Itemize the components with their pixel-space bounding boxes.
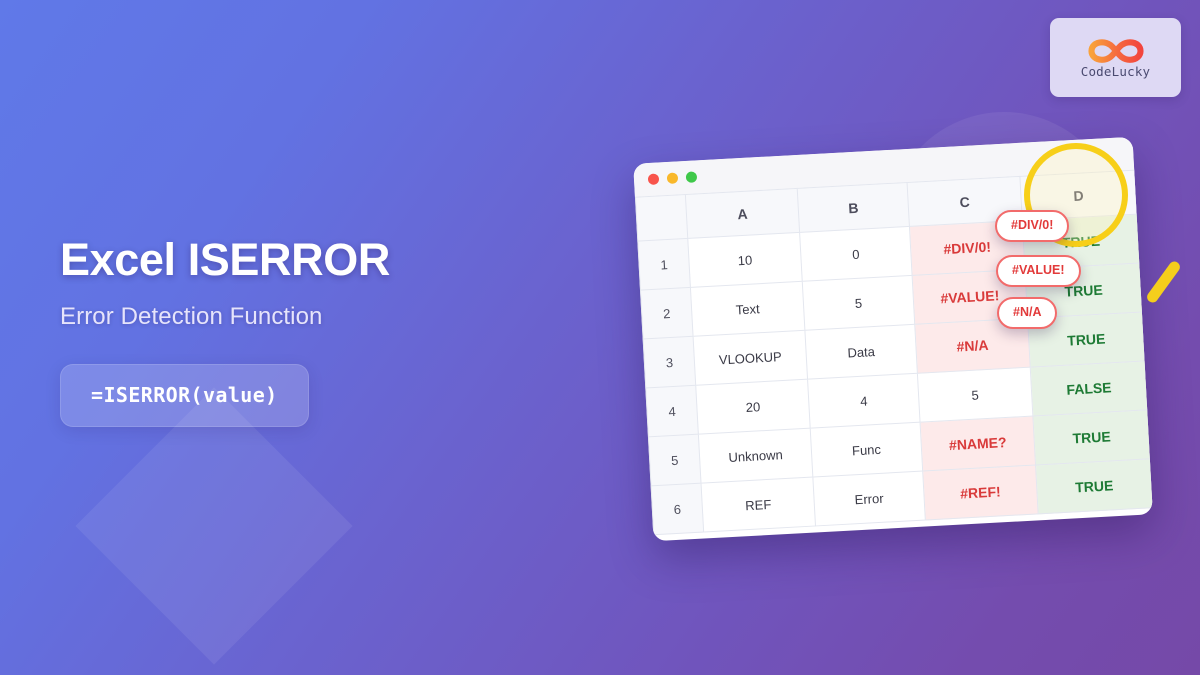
close-dot-icon[interactable] (648, 173, 660, 185)
column-header-corner[interactable] (635, 195, 687, 242)
cell-a1[interactable]: 10 (688, 232, 802, 287)
page-subtitle: Error Detection Function (60, 303, 580, 331)
brand-name: CodeLucky (1081, 66, 1151, 79)
formula-text: =ISERROR(value) (91, 383, 278, 407)
cell-a4[interactable]: 20 (696, 379, 810, 434)
cell-b5[interactable]: Func (810, 422, 922, 477)
infinity-icon (1088, 37, 1144, 65)
hero-text-block: Excel ISERROR Error Detection Function =… (60, 236, 580, 427)
slide-canvas: Excel ISERROR Error Detection Function =… (0, 0, 1200, 675)
minimize-dot-icon[interactable] (667, 172, 679, 184)
accent-slash-decoration (1145, 259, 1182, 304)
cell-b6[interactable]: Error (813, 471, 925, 526)
cell-b1[interactable]: 0 (800, 226, 912, 281)
brand-logo-card[interactable]: CodeLucky (1050, 18, 1181, 97)
error-badge-na: #N/A (997, 297, 1057, 329)
cell-a6[interactable]: REF (701, 477, 815, 532)
cell-d4[interactable]: FALSE (1030, 361, 1147, 416)
cell-d5[interactable]: TRUE (1033, 410, 1150, 465)
cell-d6[interactable]: TRUE (1036, 459, 1153, 514)
cell-c4[interactable]: 5 (917, 367, 1032, 422)
row-header-2[interactable]: 2 (640, 287, 693, 339)
cell-b4[interactable]: 4 (808, 373, 920, 428)
column-header-b[interactable]: B (797, 183, 909, 233)
formula-pill: =ISERROR(value) (60, 364, 309, 427)
cell-a5[interactable]: Unknown (698, 428, 812, 483)
row-header-4[interactable]: 4 (646, 385, 699, 437)
error-badge-value: #VALUE! (996, 255, 1081, 287)
cell-c6[interactable]: #REF! (923, 465, 1038, 520)
page-title: Excel ISERROR (60, 236, 580, 283)
cell-a2[interactable]: Text (690, 281, 804, 336)
row-header-6[interactable]: 6 (651, 483, 704, 535)
row-header-3[interactable]: 3 (643, 336, 696, 388)
background-diamond-decoration (75, 387, 352, 664)
spreadsheet-grid: A B C D 1100#DIV/0!TRUE2Text5#VALUE!TRUE… (635, 170, 1153, 536)
column-header-a[interactable]: A (685, 188, 799, 238)
cell-b2[interactable]: 5 (802, 275, 914, 330)
row-header-1[interactable]: 1 (638, 238, 691, 290)
cell-a3[interactable]: VLOOKUP (693, 330, 807, 385)
spreadsheet-window: A B C D 1100#DIV/0!TRUE2Text5#VALUE!TRUE… (633, 137, 1153, 541)
cell-b3[interactable]: Data (805, 324, 917, 379)
cell-c5[interactable]: #NAME? (920, 416, 1035, 471)
error-badge-div0: #DIV/0! (995, 210, 1069, 242)
maximize-dot-icon[interactable] (686, 171, 698, 183)
row-header-5[interactable]: 5 (648, 434, 701, 486)
